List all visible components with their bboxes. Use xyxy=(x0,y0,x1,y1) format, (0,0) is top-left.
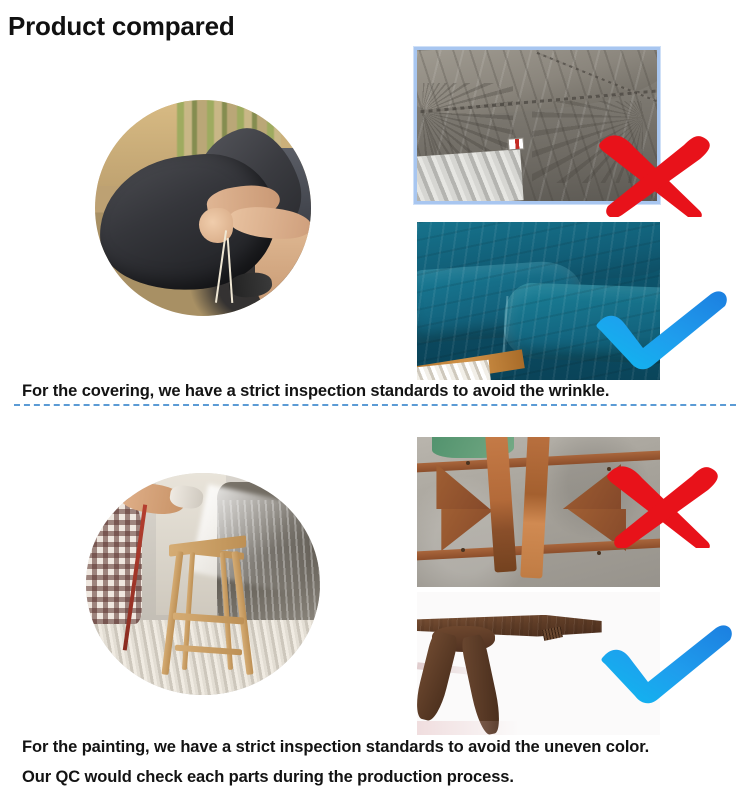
process-photo-covering xyxy=(95,100,311,316)
blue-check-icon xyxy=(600,620,738,704)
section-divider xyxy=(14,404,736,406)
caption-painting: For the painting, we have a strict inspe… xyxy=(22,738,649,757)
stool-frame xyxy=(166,540,260,678)
red-x-icon xyxy=(588,125,718,217)
red-x-icon xyxy=(596,456,726,548)
caption-covering: For the covering, we have a strict inspe… xyxy=(22,382,609,401)
page-title: Product compared xyxy=(8,10,235,42)
blue-check-icon xyxy=(595,286,733,370)
process-photo-painting xyxy=(86,473,320,695)
caption-qc-process: Our QC would check each parts during the… xyxy=(22,768,514,787)
